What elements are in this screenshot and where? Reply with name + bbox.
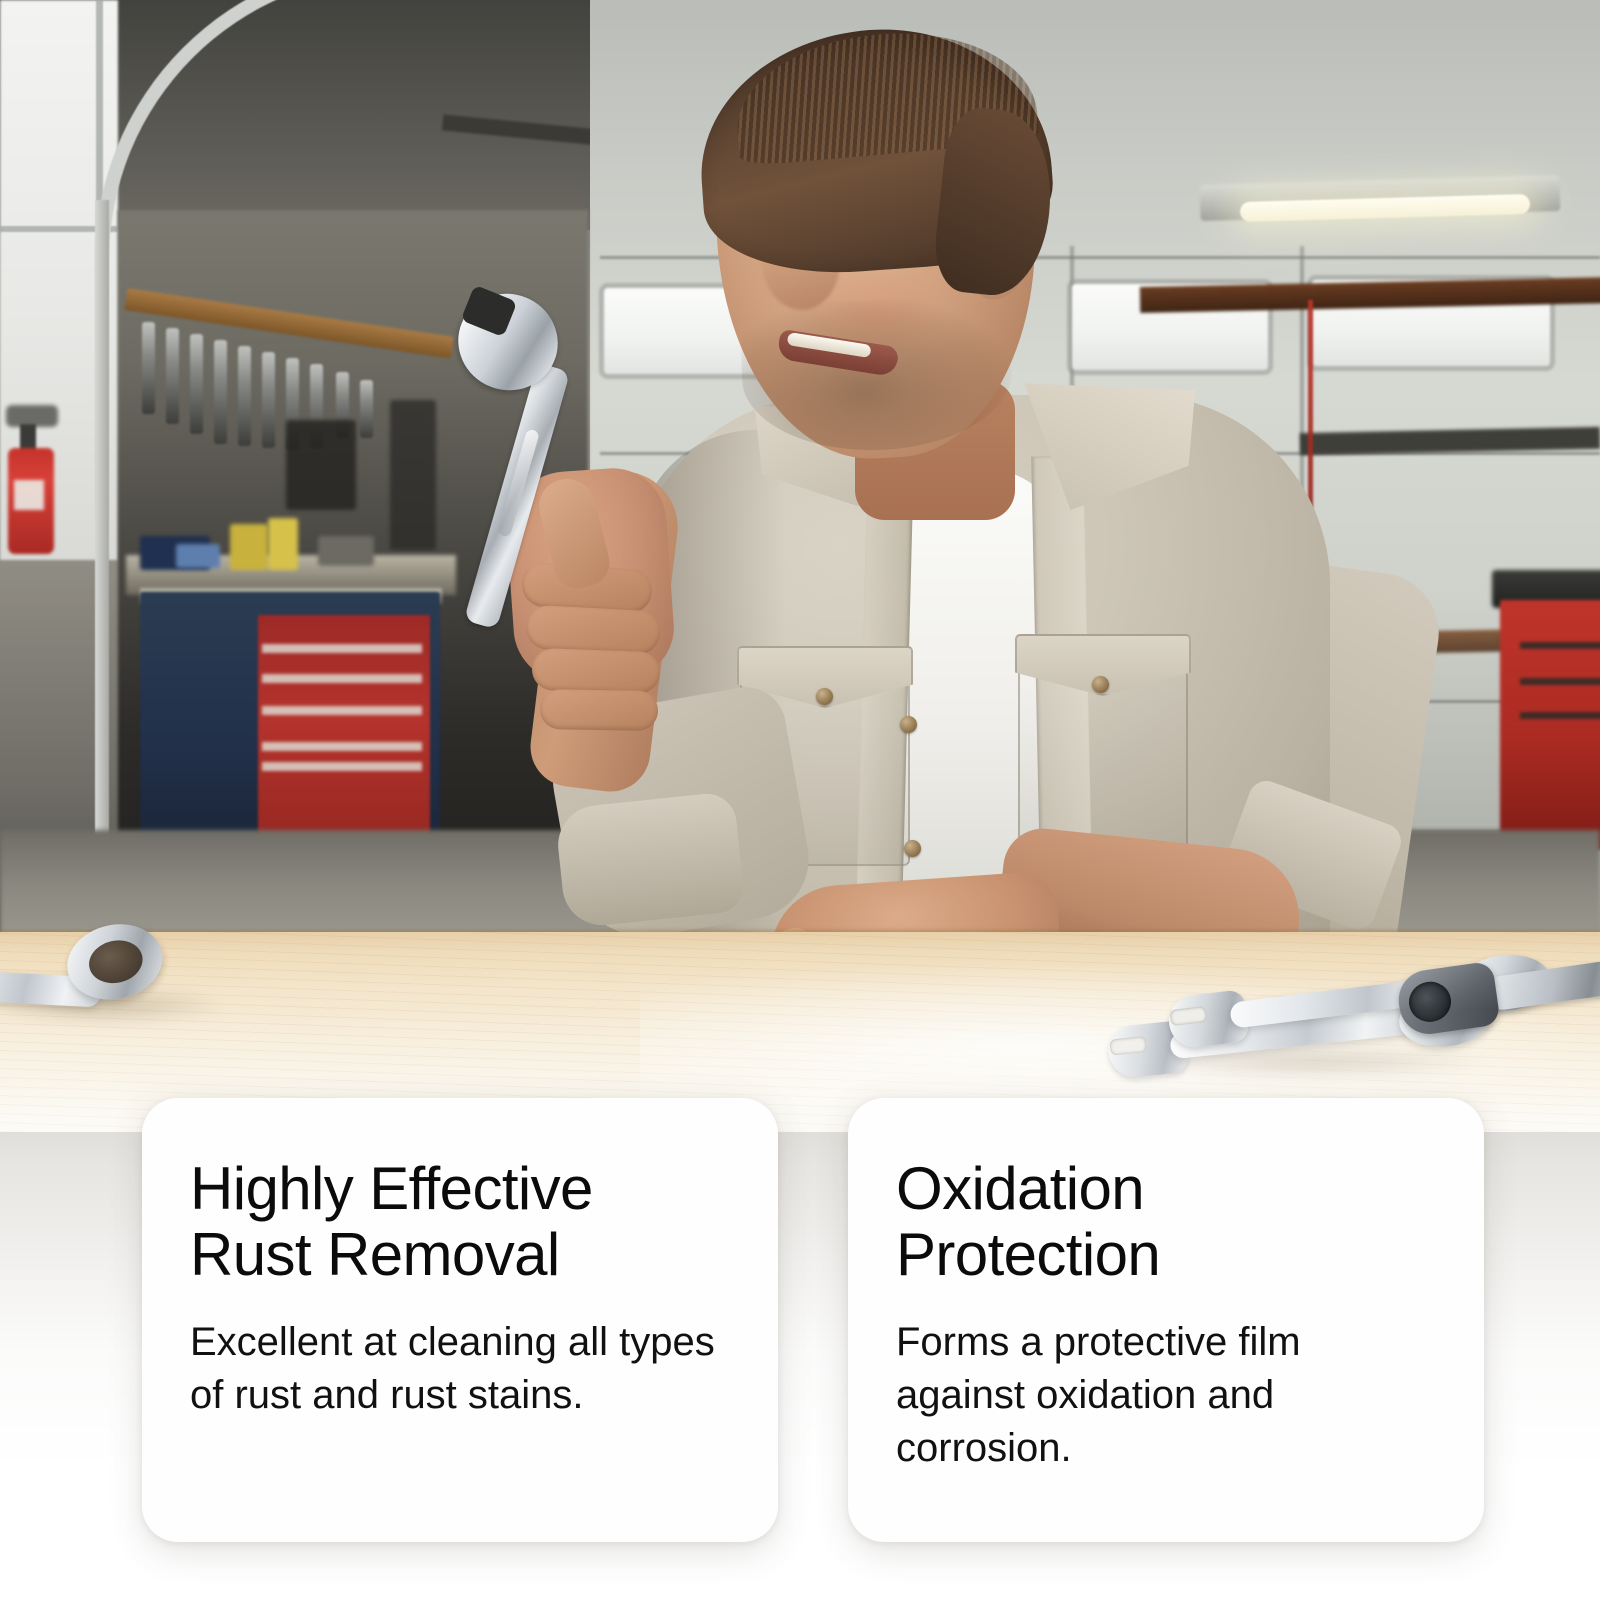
hand-finger xyxy=(540,689,659,731)
scattered-tools xyxy=(176,544,220,568)
scattered-tools xyxy=(318,536,374,566)
cabinet-drawer-handle xyxy=(262,706,422,715)
pocket-button-right xyxy=(1092,676,1109,693)
cart-drawer-slot xyxy=(1520,642,1600,649)
red-rolling-tool-cart xyxy=(1500,600,1600,850)
feature-card-oxidation-protection[interactable]: Oxidation Protection Forms a protective … xyxy=(848,1098,1484,1542)
hanging-wrench xyxy=(214,340,227,444)
hanging-wrench xyxy=(166,328,179,424)
cart-drawer-slot xyxy=(1520,712,1600,719)
extinguisher-label xyxy=(14,480,44,510)
pocket-button-left xyxy=(816,688,833,705)
card-title: Highly Effective Rust Removal xyxy=(190,1156,730,1288)
product-feature-image: Highly Effective Rust Removal Excellent … xyxy=(0,0,1600,1600)
card-description: Excellent at cleaning all types of rust … xyxy=(190,1316,730,1422)
card-description: Forms a protective film against oxidatio… xyxy=(896,1316,1436,1476)
socket-wrench-shaft xyxy=(1484,957,1600,1012)
cabinet-drawer-handle xyxy=(262,674,422,683)
cabinet-drawer-handle xyxy=(262,762,422,771)
held-open-end-wrench xyxy=(430,290,650,690)
hanging-wrench xyxy=(238,346,251,446)
hanging-wrench xyxy=(190,334,203,434)
cart-drawer-slot xyxy=(1520,678,1600,685)
shirt-button xyxy=(904,840,921,857)
left-sleeve-cuff xyxy=(554,791,746,929)
cabinet-drawer-handle xyxy=(262,742,422,751)
scattered-tools xyxy=(230,524,268,570)
shirt-button xyxy=(900,716,917,733)
cabinet-drawer-handle xyxy=(262,644,422,653)
feature-card-rust-removal[interactable]: Highly Effective Rust Removal Excellent … xyxy=(142,1098,778,1542)
wall-hook-cluster xyxy=(286,420,356,510)
feature-card-row: Highly Effective Rust Removal Excellent … xyxy=(142,1098,1512,1542)
card-title: Oxidation Protection xyxy=(896,1156,1436,1288)
scattered-tools xyxy=(268,518,298,570)
hanging-wrench xyxy=(262,352,275,448)
hanging-wrench xyxy=(142,322,155,414)
hanging-tool xyxy=(360,380,373,438)
